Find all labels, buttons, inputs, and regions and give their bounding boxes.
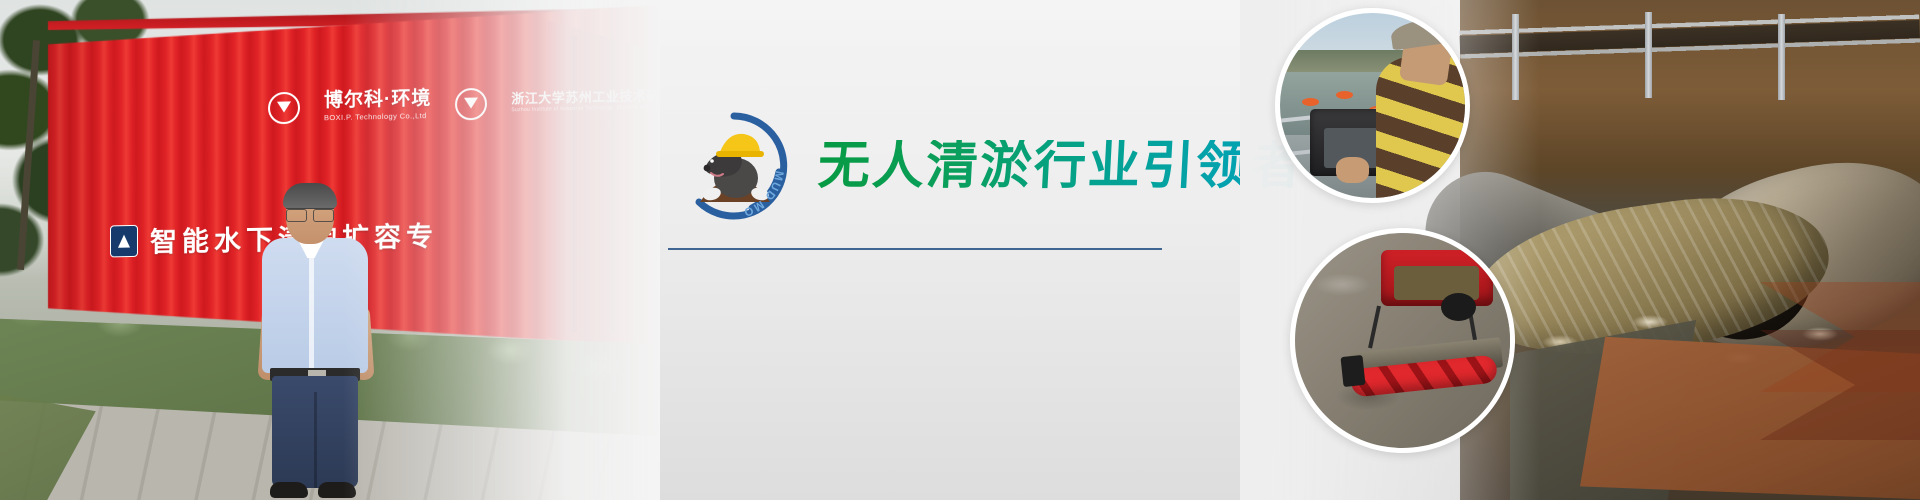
rb-drive-wheel xyxy=(1441,293,1475,321)
rb-auger-end-cap xyxy=(1341,355,1366,387)
logo-mole-eye xyxy=(710,159,714,163)
container-brand-cn: 博尔科·环境 xyxy=(324,89,431,112)
institute-brand-block: 浙江大学苏州工业技术研究院 Suzhou Institute of Indust… xyxy=(511,89,660,114)
headline-row: MUD MOLE 无人清淤行业引领者 xyxy=(678,110,1304,222)
op-person-hand xyxy=(1336,157,1369,183)
railing-post xyxy=(1645,12,1652,98)
logo-hard-hat xyxy=(720,134,760,154)
op-float-buoy xyxy=(1336,91,1353,99)
container-institute-cn: 浙江大学苏州工业技术研究院 xyxy=(511,89,660,107)
logo-hard-hat-brim xyxy=(716,151,764,157)
container-institute-en: Suzhou Institute of Industrial Technolog… xyxy=(511,105,660,114)
circle-photo-dredging-robot xyxy=(1290,228,1515,453)
boxip-brand-block: 博尔科·环境 BOXI.P. Technology Co.,Ltd xyxy=(324,89,431,122)
person-right-shoe xyxy=(318,482,356,498)
railing-post xyxy=(1778,14,1785,100)
boxip-logo-icon xyxy=(268,92,300,125)
hero-banner: 博尔科·环境 BOXI.P. Technology Co.,Ltd 浙江大学苏州… xyxy=(0,0,1920,500)
person-hair xyxy=(283,183,337,209)
muddy-water-basin xyxy=(1580,330,1920,500)
person-shirt-placket xyxy=(309,256,314,368)
railing-post xyxy=(1512,14,1519,100)
person-trousers xyxy=(272,376,358,488)
photo-railing xyxy=(1459,2,1920,88)
container-brand-en: BOXI.P. Technology Co.,Ltd xyxy=(324,112,431,122)
zju-institute-seal-icon xyxy=(455,88,487,121)
slogan-badge-icon xyxy=(110,224,138,257)
mud-mole-logo: MUD MOLE xyxy=(678,110,790,222)
right-image-cluster xyxy=(1240,0,1920,500)
left-photo-man-and-container: 博尔科·环境 BOXI.P. Technology Co.,Ltd 浙江大学苏州… xyxy=(0,0,660,500)
logo-mole-snout xyxy=(704,165,711,172)
rb-red-chassis xyxy=(1381,250,1493,306)
center-content: MUD MOLE 无人清淤行业引领者 xyxy=(660,0,1240,500)
headline-text: 无人清淤行业引领者 xyxy=(817,140,1306,192)
person-standing xyxy=(256,186,376,500)
sludge-discharge-photo xyxy=(1460,0,1920,500)
person-left-shoe xyxy=(270,482,308,498)
container-end-doors xyxy=(548,14,644,354)
person-glasses xyxy=(286,208,334,220)
mud-mole-logo-svg: MUD MOLE xyxy=(678,110,790,222)
circle-photo-operator xyxy=(1275,8,1470,203)
headline-divider xyxy=(668,248,1162,250)
person-shirt xyxy=(262,238,368,373)
